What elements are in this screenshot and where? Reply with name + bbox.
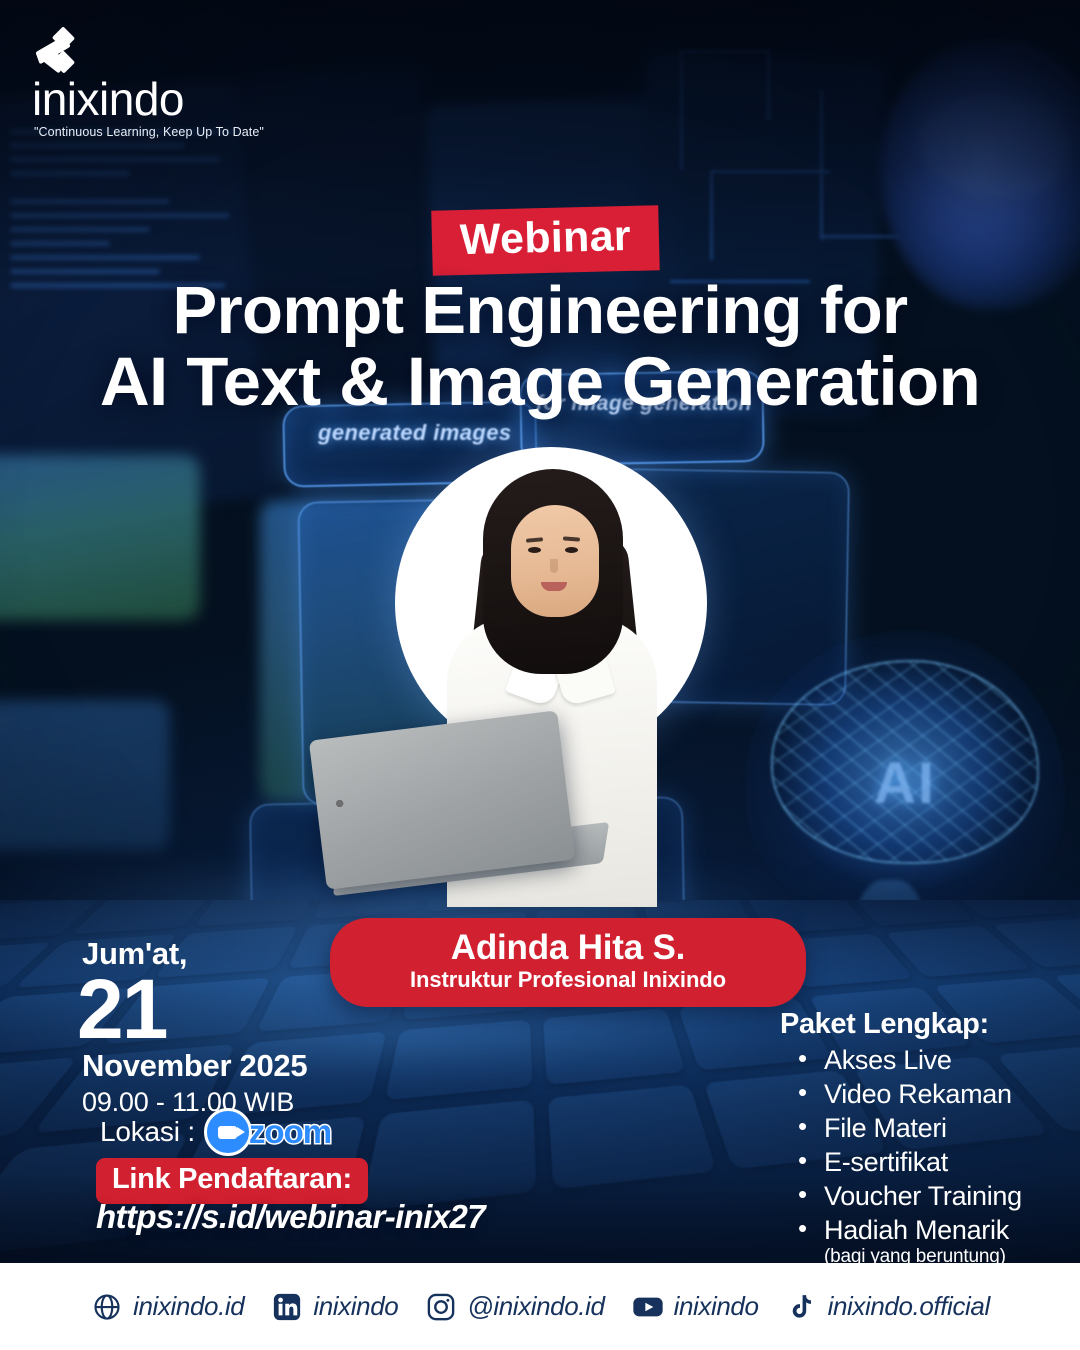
instagram-icon (424, 1290, 458, 1324)
zoom-camera-icon (204, 1108, 252, 1156)
event-month-year: November 2025 (82, 1050, 372, 1083)
speaker-photo (395, 447, 707, 907)
page-title: Prompt Engineering for AI Text & Image G… (0, 276, 1080, 417)
globe-icon (90, 1290, 124, 1324)
social-label: inixindo.id (133, 1291, 244, 1322)
inixindo-x-mark-icon (38, 28, 94, 80)
linkedin-icon (270, 1290, 304, 1324)
location-label: Lokasi : (100, 1116, 195, 1148)
list-item: Akses Live (794, 1043, 1070, 1077)
title-line-1: Prompt Engineering for (173, 273, 908, 348)
list-item: Hadiah Menarik (794, 1213, 1070, 1247)
title-line-2: AI Text & Image Generation (0, 346, 1080, 418)
social-label: inixindo (674, 1291, 759, 1322)
package-block: Paket Lengkap: Akses Live Video Rekaman … (780, 1008, 1070, 1269)
social-youtube[interactable]: inixindo (631, 1290, 759, 1324)
list-item: Video Rekaman (794, 1077, 1070, 1111)
tiktok-icon (785, 1290, 819, 1324)
speaker-role: Instruktur Profesional Inixindo (346, 967, 790, 993)
list-item: File Materi (794, 1111, 1070, 1145)
social-instagram[interactable]: @inixindo.id (424, 1290, 604, 1324)
event-location: Lokasi : zoom (100, 1108, 331, 1156)
event-date-number: 21 (77, 971, 372, 1048)
social-label: inixindo (313, 1291, 398, 1322)
webinar-badge: Webinar (431, 205, 659, 276)
zoom-logo: zoom (204, 1108, 331, 1156)
brand-tagline: "Continuous Learning, Keep Up To Date" (30, 125, 290, 139)
package-list: Akses Live Video Rekaman File Materi E-s… (780, 1043, 1070, 1247)
brand-logo: inixindo "Continuous Learning, Keep Up T… (30, 28, 290, 139)
register-url[interactable]: https://s.id/webinar-inix27 (96, 1198, 485, 1236)
list-item: Voucher Training (794, 1179, 1070, 1213)
webinar-poster: generated images for image generation AI… (0, 0, 1080, 1350)
event-date-block: Jum'at, 21 November 2025 09.00 - 11.00 W… (82, 938, 372, 1120)
brand-name: inixindo (30, 76, 290, 122)
social-linkedin[interactable]: inixindo (270, 1290, 398, 1324)
youtube-icon (631, 1290, 665, 1324)
social-label: @inixindo.id (467, 1291, 604, 1322)
speaker-name: Adinda Hita S. (346, 929, 790, 966)
package-title: Paket Lengkap: (780, 1008, 1070, 1041)
zoom-wordmark: zoom (249, 1113, 331, 1151)
list-item: E-sertifikat (794, 1145, 1070, 1179)
social-label: inixindo.official (828, 1291, 990, 1322)
speaker-banner: Adinda Hita S. Instruktur Profesional In… (330, 918, 806, 1007)
social-tiktok[interactable]: inixindo.official (785, 1290, 990, 1324)
social-footer: inixindo.id inixindo @ini (0, 1263, 1080, 1350)
social-website[interactable]: inixindo.id (90, 1290, 244, 1324)
